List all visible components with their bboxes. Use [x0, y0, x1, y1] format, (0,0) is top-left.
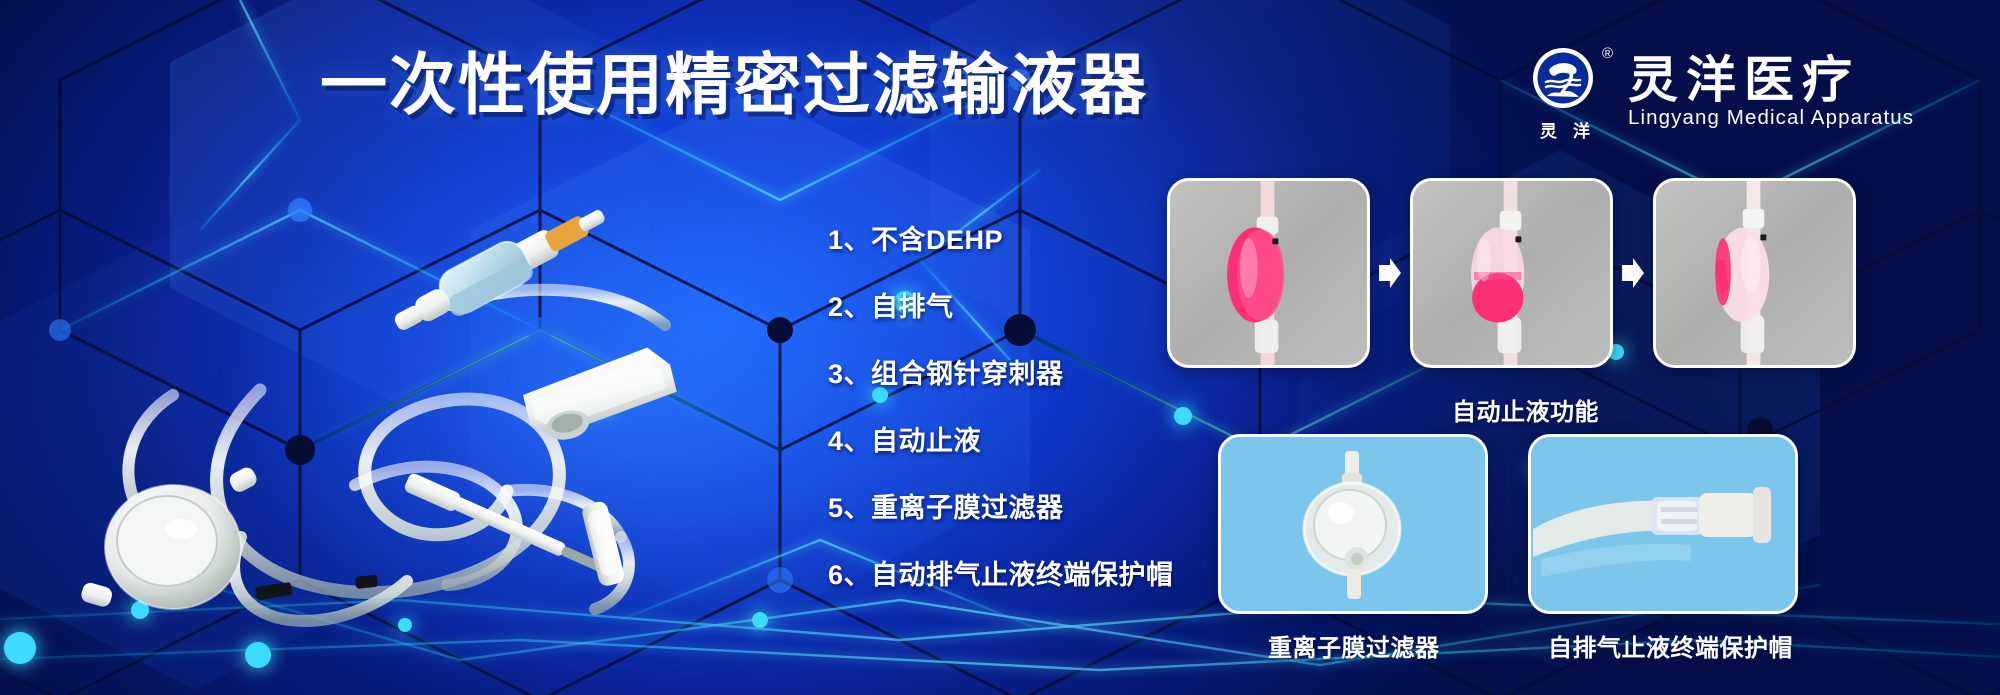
company-name-en: Lingyang Medical Apparatus — [1628, 108, 1914, 129]
feature-item: 5、重离子膜过滤器 — [828, 486, 1174, 525]
detail-caption-filter: 重离子膜过滤器 — [1268, 628, 1440, 663]
feature-item: 4、自动止液 — [828, 419, 1174, 458]
logo-text-block: 灵洋医疗 Lingyang Medical Apparatus — [1628, 55, 1914, 129]
photo-self-venting-terminal-cap — [1528, 434, 1798, 614]
product-photo-infusion-set — [55, 185, 795, 625]
detail-panel-row — [1218, 434, 1798, 614]
feature-item: 2、自排气 — [828, 285, 1174, 324]
registered-trademark-icon: ® — [1602, 46, 1613, 61]
photo-auto-stop-full — [1167, 178, 1370, 368]
sequence-frame-3 — [1653, 178, 1856, 368]
company-logo: ® 灵洋 灵洋医疗 Lingyang Medical Apparatus — [1524, 42, 1914, 142]
auto-stop-sequence — [1167, 178, 1856, 368]
feature-item: 3、组合钢针穿刺器 — [828, 352, 1174, 391]
feature-list: 1、不含DEHP 2、自排气 3、组合钢针穿刺器 4、自动止液 5、重离子膜过滤… — [828, 218, 1174, 592]
sequence-arrow-icon — [1370, 256, 1410, 290]
logo-mark-caption: 灵洋 — [1524, 117, 1606, 142]
sequence-caption: 自动止液功能 — [1452, 392, 1599, 427]
product-banner: 一次性使用精密过滤输液器 ® 灵洋 灵洋医疗 Lingyang Medical … — [0, 0, 2000, 695]
photo-auto-stop-half — [1410, 178, 1613, 368]
lingyang-circular-emblem-icon: ® — [1529, 42, 1601, 114]
company-name-cn: 灵洋医疗 — [1628, 55, 1914, 105]
sequence-frame-2 — [1410, 178, 1613, 368]
sequence-arrow-icon — [1613, 256, 1653, 290]
photo-auto-stop-empty — [1653, 178, 1856, 368]
feature-item: 6、自动排气止液终端保护帽 — [828, 553, 1174, 592]
sequence-frame-1 — [1167, 178, 1370, 368]
page-title: 一次性使用精密过滤输液器 — [320, 52, 1148, 119]
photo-heavy-ion-membrane-filter — [1218, 434, 1488, 614]
feature-item: 1、不含DEHP — [828, 218, 1174, 257]
logo-mark: ® 灵洋 — [1524, 42, 1606, 142]
detail-caption-terminal-cap: 自排气止液终端保护帽 — [1548, 628, 1793, 663]
